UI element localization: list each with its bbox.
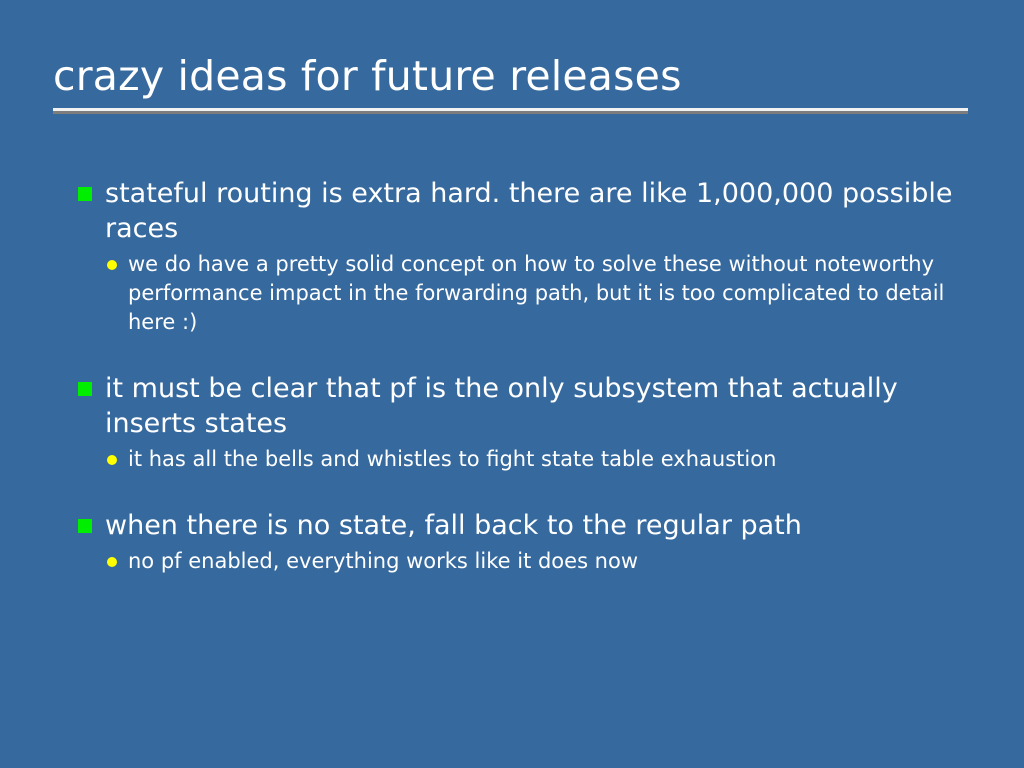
sub-bullet-item: no pf enabled, everything works like it … — [78, 547, 968, 576]
bullet-group: when there is no state, fall back to the… — [78, 508, 968, 576]
bullet-item: when there is no state, fall back to the… — [78, 508, 968, 543]
dot-bullet-icon — [107, 557, 117, 567]
dot-bullet-icon — [107, 455, 117, 465]
sub-bullet-text: no pf enabled, everything works like it … — [128, 549, 638, 573]
bullet-text: stateful routing is extra hard. there ar… — [105, 178, 953, 244]
bullet-text: it must be clear that pf is the only sub… — [105, 373, 898, 439]
dot-bullet-icon — [107, 260, 117, 270]
sub-bullet-list: we do have a pretty solid concept on how… — [78, 250, 968, 337]
sub-bullet-text: it has all the bells and whistles to fig… — [128, 447, 776, 471]
sub-bullet-list: no pf enabled, everything works like it … — [78, 547, 968, 576]
bullet-text: when there is no state, fall back to the… — [105, 510, 802, 541]
title-divider — [53, 108, 968, 111]
slide: crazy ideas for future releases stateful… — [0, 0, 1024, 768]
bullet-group: it must be clear that pf is the only sub… — [78, 371, 968, 474]
square-bullet-icon — [78, 519, 92, 533]
square-bullet-icon — [78, 382, 92, 396]
bullet-group: stateful routing is extra hard. there ar… — [78, 176, 968, 337]
title-block: crazy ideas for future releases — [53, 52, 968, 111]
page-title: crazy ideas for future releases — [53, 52, 968, 100]
bullet-item: it must be clear that pf is the only sub… — [78, 371, 968, 441]
sub-bullet-item: it has all the bells and whistles to fig… — [78, 445, 968, 474]
sub-bullet-list: it has all the bells and whistles to fig… — [78, 445, 968, 474]
slide-body: stateful routing is extra hard. there ar… — [78, 176, 968, 576]
bullet-item: stateful routing is extra hard. there ar… — [78, 176, 968, 246]
square-bullet-icon — [78, 187, 92, 201]
sub-bullet-item: we do have a pretty solid concept on how… — [78, 250, 968, 337]
sub-bullet-text: we do have a pretty solid concept on how… — [128, 252, 944, 334]
